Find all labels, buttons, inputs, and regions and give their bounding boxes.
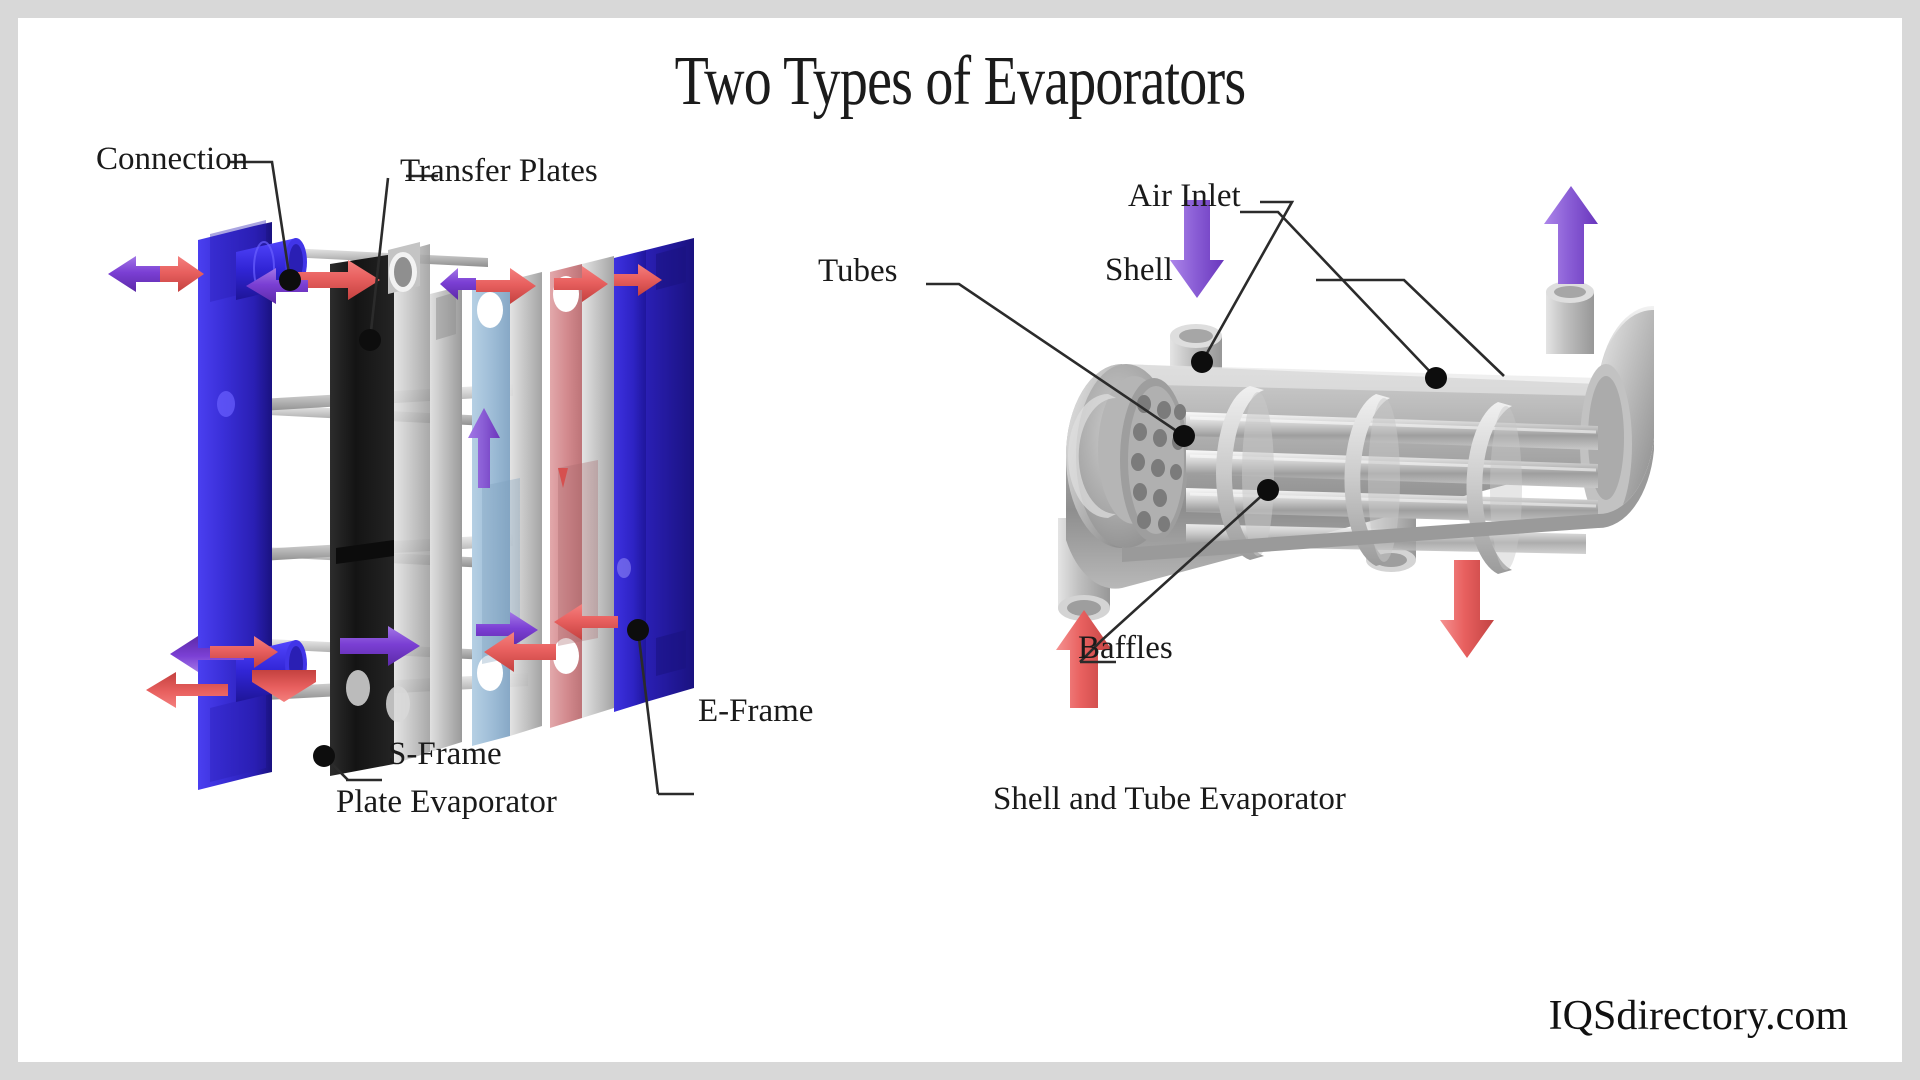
refrigerant-arrow-down [1440, 560, 1494, 658]
leader-line-air-inlet [1202, 202, 1292, 362]
leader-dot-air-inlet [1191, 351, 1213, 373]
transfer-plate-lightblue [472, 272, 542, 746]
label-transfer-plates: Transfer Plates [400, 153, 598, 189]
leader-dot-e-frame [627, 619, 649, 641]
watermark-iqsdirectory: IQSdirectory.com [1549, 992, 1848, 1040]
leader-dot-baffles [1257, 479, 1279, 501]
flow-arrow-purple [108, 256, 160, 292]
label-connection: Connection [96, 141, 248, 177]
shell-label-leader [1308, 268, 1708, 488]
e-frame-plate [614, 238, 694, 712]
air-inlet-arrow-down [1170, 200, 1224, 298]
leader-line-shell-segment [1316, 280, 1504, 376]
label-air-inlet: Air Inlet [1128, 178, 1241, 214]
label-e-frame: E-Frame [698, 693, 813, 729]
label-s-frame: S-Frame [388, 736, 502, 772]
s-frame-plate [198, 220, 307, 790]
leader-dot-connection [279, 269, 301, 291]
caption-plate-evaporator: Plate Evaporator [336, 783, 557, 821]
label-tubes: Tubes [818, 253, 898, 289]
transfer-plate-pink [550, 256, 614, 728]
caption-shell-tube-evaporator: Shell and Tube Evaporator [993, 780, 1346, 818]
tube-sheet [1120, 378, 1188, 542]
leader-dot-transfer-plates [359, 329, 381, 351]
label-baffles: Baffles [1078, 630, 1173, 666]
evaporator-diagram-page: Two Types of Evaporators [0, 0, 1920, 1080]
page-title: Two Types of Evaporators [206, 40, 1713, 124]
transfer-plate-dark [330, 242, 430, 776]
steel-backing-plate [430, 286, 462, 752]
label-shell: Shell [1105, 252, 1173, 288]
diagram-canvas: Two Types of Evaporators [18, 18, 1902, 1062]
plate-evaporator-illustration [58, 168, 958, 1062]
leader-dot-tubes [1173, 425, 1195, 447]
leader-dot-s-frame [313, 745, 335, 767]
